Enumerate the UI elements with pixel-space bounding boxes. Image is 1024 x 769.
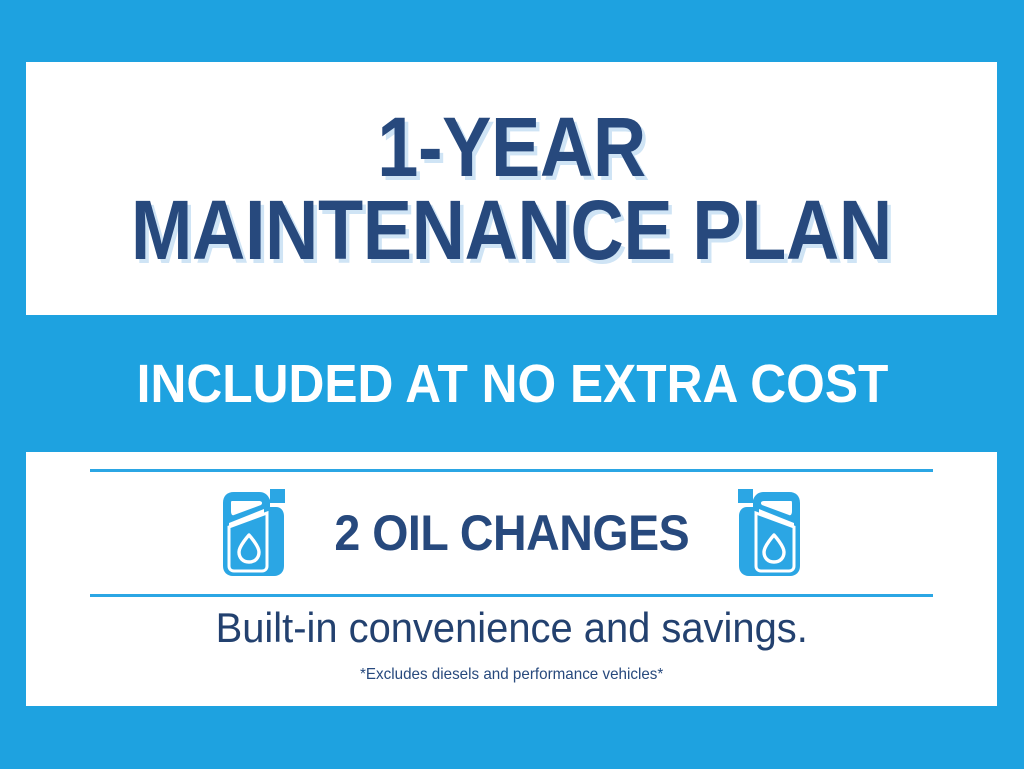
headline-line-1: 1-YEAR — [377, 108, 645, 187]
fineprint-text: *Excludes diesels and performance vehicl… — [360, 666, 663, 684]
divider-top — [90, 469, 933, 472]
fineprint: *Excludes diesels and performance vehicl… — [26, 666, 997, 684]
headline-line-2: MAINTENANCE PLAN — [131, 191, 892, 270]
divider-bottom — [90, 594, 933, 597]
detail-card: 2 OIL CHANGES Built-in convenience and s… — [26, 452, 997, 706]
tagline-text: Built-in convenience and savings. — [215, 604, 807, 652]
feature-row: 2 OIL CHANGES — [26, 474, 997, 592]
headline-card: 1-YEAR MAINTENANCE PLAN — [26, 62, 997, 315]
tagline: Built-in convenience and savings. — [26, 604, 997, 652]
banner-strip: INCLUDED AT NO EXTRA COST — [0, 315, 1024, 452]
oil-jug-icon-right — [736, 487, 808, 579]
banner-text: INCLUDED AT NO EXTRA COST — [136, 353, 888, 415]
promo-poster: 1-YEAR MAINTENANCE PLAN INCLUDED AT NO E… — [0, 0, 1024, 769]
feature-label: 2 OIL CHANGES — [334, 504, 689, 562]
oil-jug-icon-left — [215, 487, 287, 579]
